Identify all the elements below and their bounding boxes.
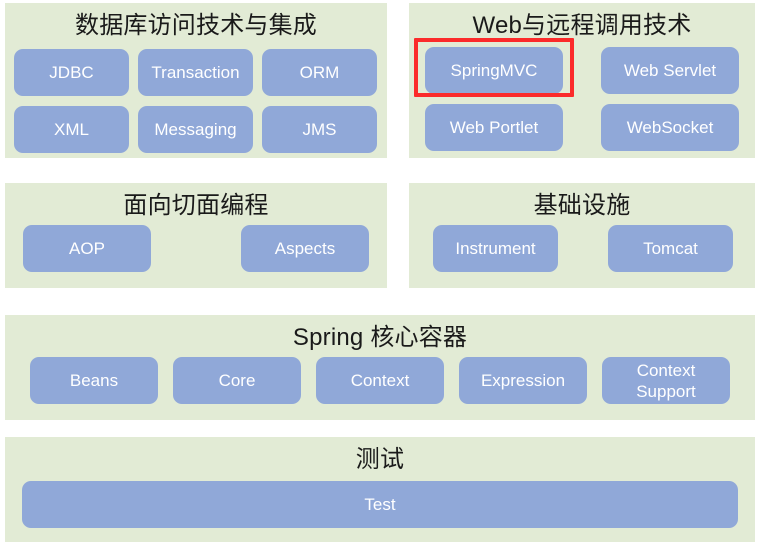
node-row-web-1: SpringMVC Web Servlet [425, 47, 739, 94]
node-core[interactable]: Core [173, 357, 301, 404]
node-aspects[interactable]: Aspects [241, 225, 369, 272]
node-xml[interactable]: XML [14, 106, 129, 153]
node-expression[interactable]: Expression [459, 357, 587, 404]
node-context[interactable]: Context [316, 357, 444, 404]
node-jms[interactable]: JMS [262, 106, 377, 153]
panel-title-data-access: 数据库访问技术与集成 [5, 11, 387, 41]
panel-web: Web与远程调用技术 SpringMVC Web Servlet Web Por… [409, 3, 755, 158]
node-row-infrastructure: Instrument Tomcat [433, 225, 733, 272]
node-instrument[interactable]: Instrument [433, 225, 558, 272]
panel-core-container: Spring 核心容器 Beans Core Context Expressio… [5, 315, 755, 420]
node-test[interactable]: Test [22, 481, 738, 528]
node-tomcat[interactable]: Tomcat [608, 225, 733, 272]
node-springmvc[interactable]: SpringMVC [425, 47, 563, 94]
node-context-support-line2: Support [636, 381, 696, 402]
node-web-portlet[interactable]: Web Portlet [425, 104, 563, 151]
node-transaction[interactable]: Transaction [138, 49, 253, 96]
node-beans[interactable]: Beans [30, 357, 158, 404]
panel-title-aop: 面向切面编程 [5, 191, 387, 221]
panel-infrastructure: 基础设施 Instrument Tomcat [409, 183, 755, 288]
node-jdbc[interactable]: JDBC [14, 49, 129, 96]
panel-data-access: 数据库访问技术与集成 JDBC Transaction ORM XML Mess… [5, 3, 387, 158]
node-aop[interactable]: AOP [23, 225, 151, 272]
panel-title-test: 测试 [5, 445, 755, 475]
node-row-core-container: Beans Core Context Expression Context Su… [30, 357, 730, 404]
node-messaging[interactable]: Messaging [138, 106, 253, 153]
panel-title-infrastructure: 基础设施 [409, 191, 755, 221]
node-row-web-2: Web Portlet WebSocket [425, 104, 739, 151]
panel-aop: 面向切面编程 AOP Aspects [5, 183, 387, 288]
panel-test: 测试 Test [5, 437, 755, 542]
node-web-servlet[interactable]: Web Servlet [601, 47, 739, 94]
node-row-aop: AOP Aspects [23, 225, 369, 272]
node-context-support[interactable]: Context Support [602, 357, 730, 404]
panel-title-core-container: Spring 核心容器 [5, 323, 755, 353]
node-row-test: Test [22, 481, 738, 528]
node-websocket[interactable]: WebSocket [601, 104, 739, 151]
panel-title-web: Web与远程调用技术 [409, 11, 755, 41]
node-context-support-line1: Context [637, 360, 696, 381]
node-row-data-access-1: JDBC Transaction ORM [14, 49, 378, 96]
node-row-data-access-2: XML Messaging JMS [14, 106, 378, 153]
spring-architecture-diagram: 数据库访问技术与集成 JDBC Transaction ORM XML Mess… [0, 0, 761, 546]
node-orm[interactable]: ORM [262, 49, 377, 96]
